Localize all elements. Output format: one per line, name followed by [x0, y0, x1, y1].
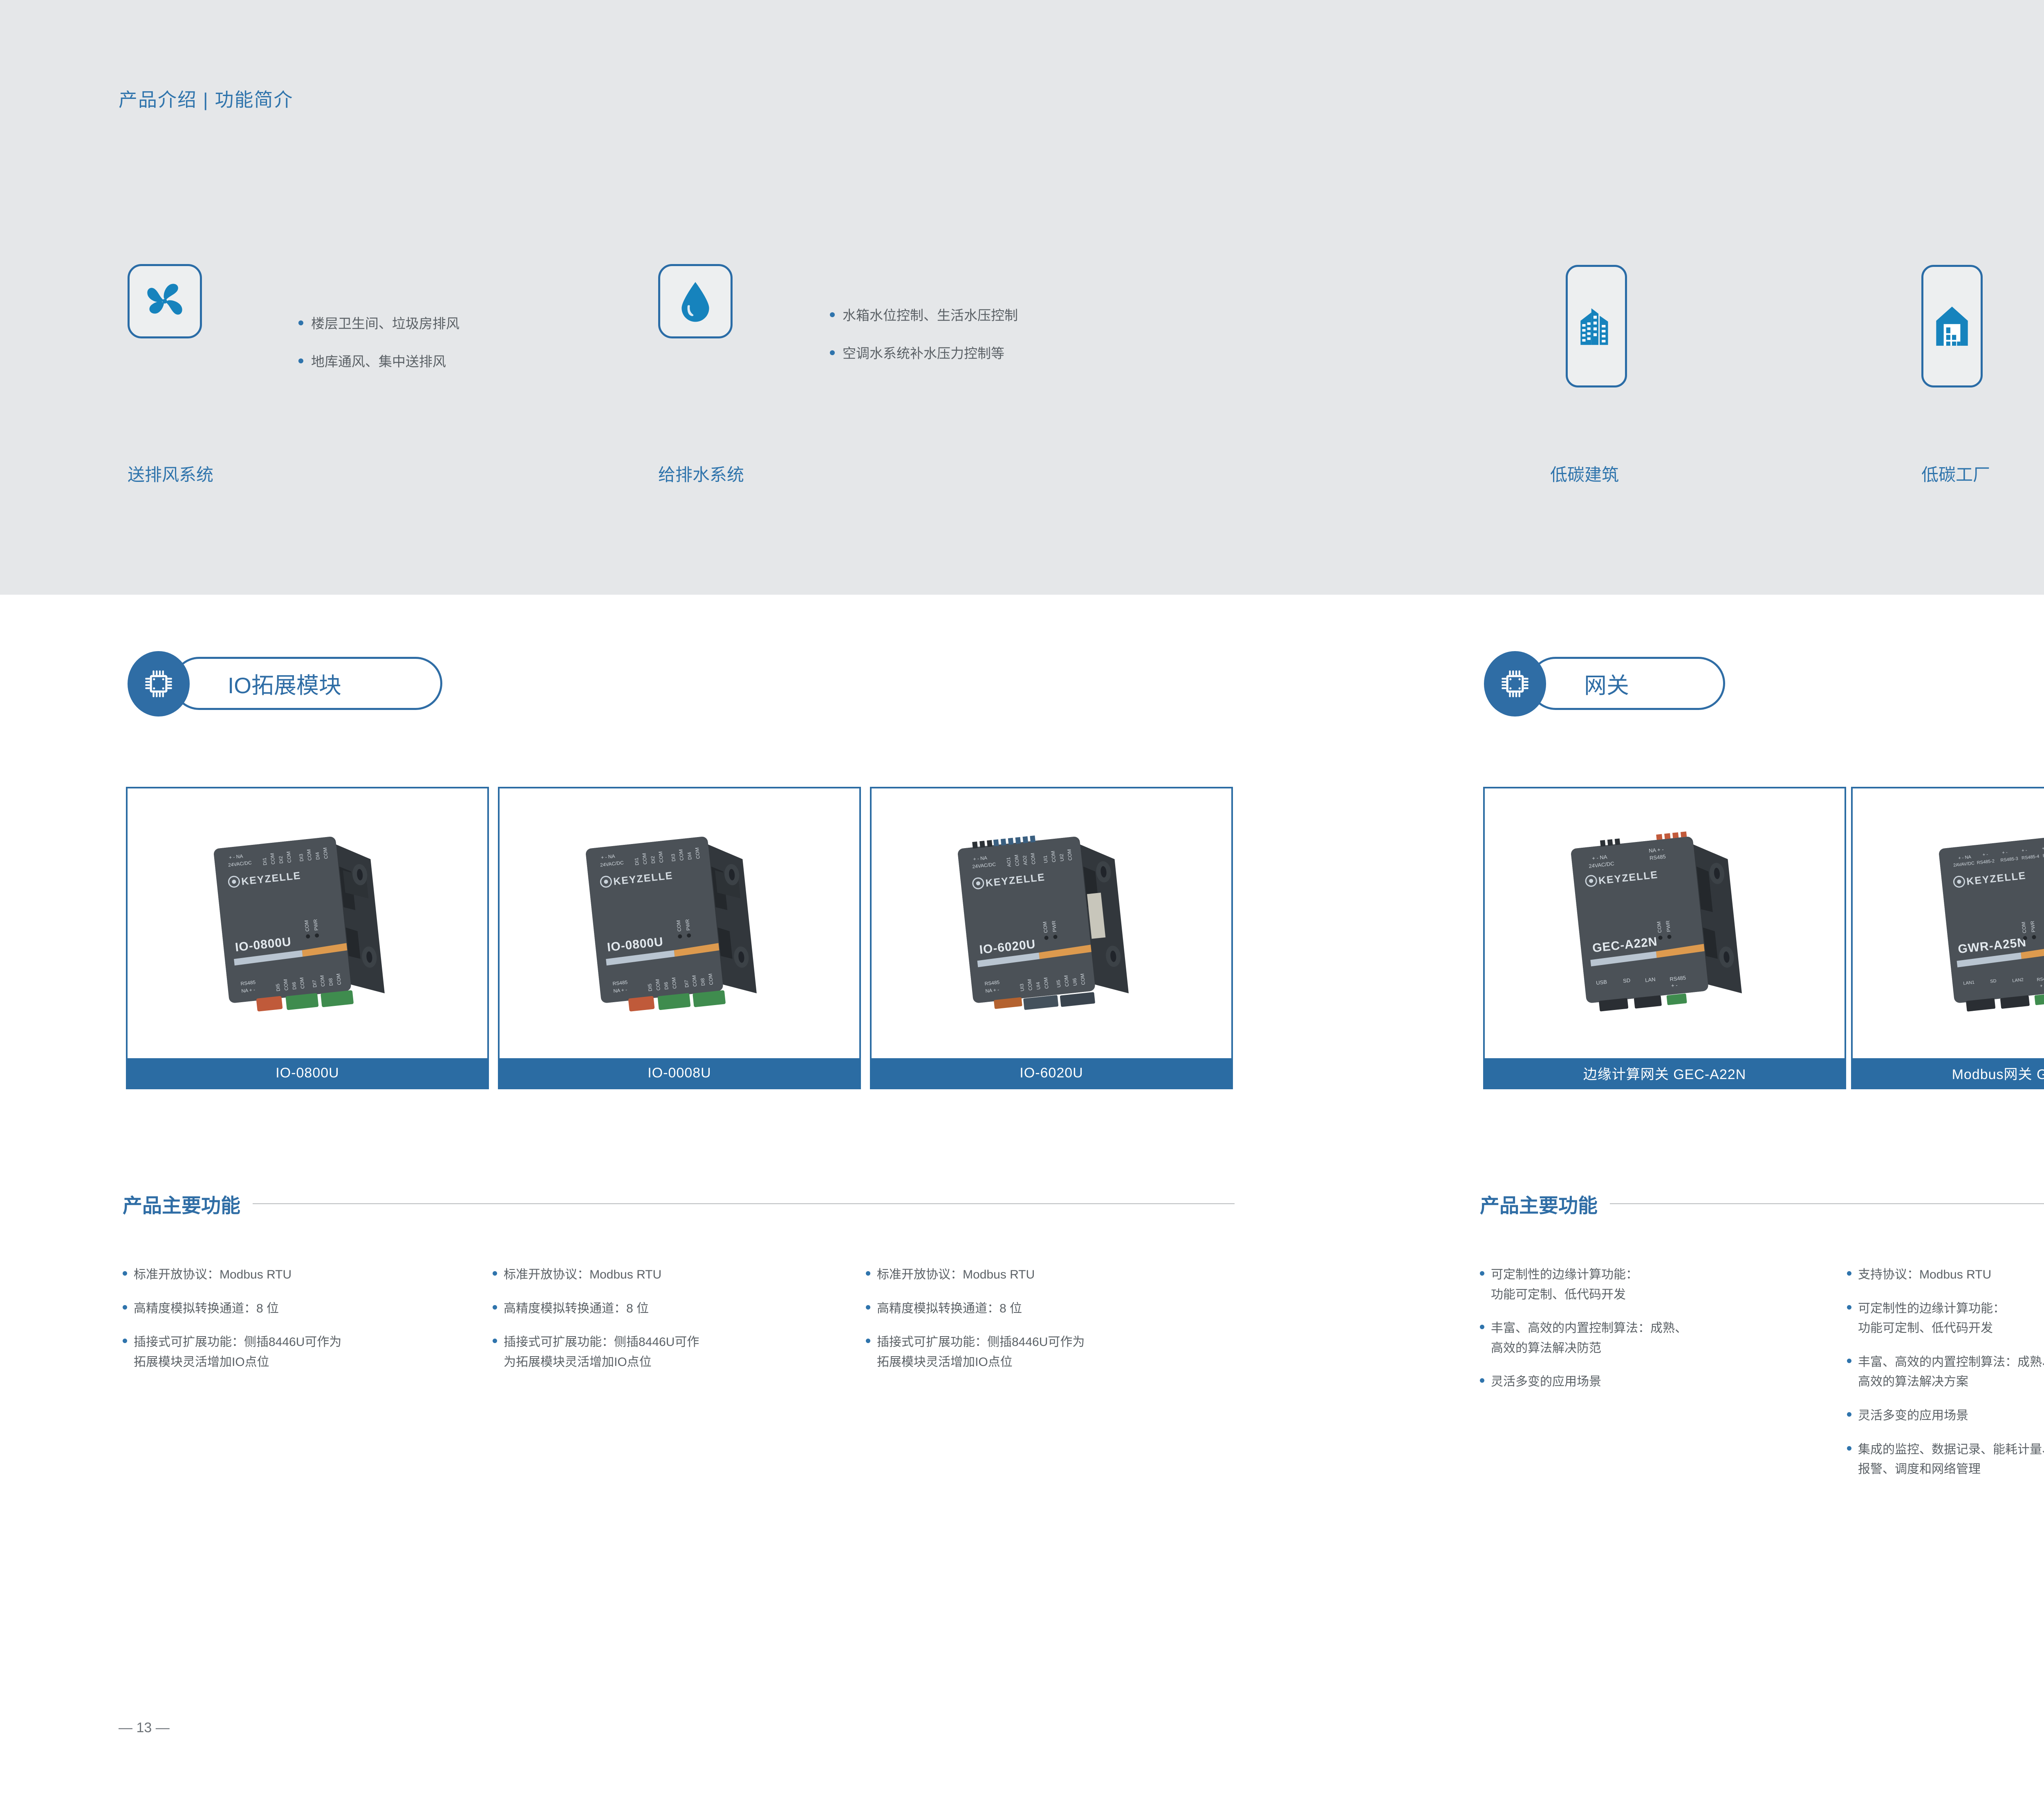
svg-text:UI3: UI3	[1019, 983, 1025, 992]
svg-text:UI6: UI6	[1071, 978, 1078, 986]
product-caption: Modbus网关 GWR-A25N	[1853, 1058, 2044, 1088]
bullet-dot	[830, 350, 835, 355]
svg-text:DI3: DI3	[298, 853, 305, 862]
bullet-dot	[866, 1271, 870, 1276]
list-item: 可定制性的边缘计算功能： 功能可定制、低代码开发	[1480, 1265, 1840, 1305]
scenario-label-factory: 低碳工厂	[1921, 461, 1990, 486]
bullet-text: 空调水系统补水压力控制等	[843, 345, 1004, 363]
svg-text:DI6: DI6	[663, 982, 670, 990]
svg-text:UI2: UI2	[1058, 853, 1065, 862]
app-tile-water	[658, 264, 733, 338]
list-item: 地库通风、集中送排风	[298, 353, 459, 371]
device-photo-gwr-a25n: + - NA + - + - + - + - 2AVAV/DC RS485-2 …	[1889, 809, 2044, 1038]
fan-icon	[142, 278, 188, 324]
scenario-tile-building	[1566, 265, 1627, 387]
list-item: 空调水系统补水压力控制等	[830, 345, 1018, 363]
bullet-dot	[123, 1271, 127, 1276]
bullet-dot	[493, 1339, 497, 1343]
bullet-dot	[493, 1271, 497, 1276]
list-item: 高精度模拟转换通道：8 位	[493, 1299, 852, 1319]
feature-column-io-3: 标准开放协议：Modbus RTU 高精度模拟转换通道：8 位 插接式可扩展功能…	[866, 1265, 1226, 1386]
product-card-io-0008u[interactable]: + - NA 24VAC/DC DI1 COM DI2 COM DI3 COM …	[498, 787, 861, 1089]
list-item: 标准开放协议：Modbus RTU	[123, 1265, 482, 1285]
feature-text: 可定制性的边缘计算功能： 功能可定制、低代码开发	[1858, 1299, 2005, 1339]
app-label-ventilation: 送排风系统	[128, 461, 213, 486]
bullet-dot	[298, 320, 303, 325]
svg-text:COM: COM	[322, 847, 329, 859]
feature-text: 插接式可扩展功能：侧插8446U可作为 拓展模块灵活增加IO点位	[877, 1332, 1085, 1372]
svg-text:+ -: + -	[2002, 850, 2008, 855]
section-title-gateway: 网关	[1584, 667, 1629, 700]
svg-text:+ -: + -	[2022, 848, 2028, 853]
product-photo: + - NA + - + - + - + - 2AVAV/DC RS485-2 …	[1853, 788, 2044, 1058]
list-item: 丰富、高效的内置控制算法：成熟、 高效的算法解决方案	[1847, 1352, 2044, 1392]
product-card-io-6020u[interactable]: + - NA 24VAC/DC AO1 COM AO2 COM UI1 COM …	[870, 787, 1233, 1089]
svg-text:COM: COM	[1656, 921, 1663, 933]
list-item: 高精度模拟转换通道：8 位	[123, 1299, 482, 1319]
svg-text:DI1: DI1	[262, 857, 268, 865]
feature-column-gateway-1: 可定制性的边缘计算功能： 功能可定制、低代码开发 丰富、高效的内置控制算法：成熟…	[1480, 1265, 1840, 1406]
svg-text:+ -: + -	[1671, 982, 1678, 989]
svg-text:SD: SD	[1623, 977, 1631, 984]
bullet-text: 地库通风、集中送排风	[311, 353, 446, 371]
app-bullets-ventilation: 楼层卫生间、垃圾房排风 地库通风、集中送排风	[298, 315, 459, 390]
svg-text:DI7: DI7	[684, 979, 690, 987]
svg-text:DI2: DI2	[278, 855, 284, 864]
bullet-dot	[1847, 1412, 1851, 1417]
list-item: 丰富、高效的内置控制算法：成熟、 高效的算法解决防范	[1480, 1319, 1840, 1358]
feature-text: 灵活多变的应用场景	[1858, 1406, 1968, 1426]
heading-rule	[1610, 1203, 2044, 1204]
list-item: 灵活多变的应用场景	[1480, 1372, 1840, 1392]
svg-text:UI5: UI5	[1056, 979, 1062, 987]
device-photo-gec-a22n: + - NA 24VAC/DC NA + - RS485 USB SD LAN …	[1522, 809, 1808, 1038]
feature-text: 丰富、高效的内置控制算法：成熟、 高效的算法解决方案	[1858, 1352, 2044, 1392]
section-badge-io: IO拓展模块	[128, 648, 438, 719]
svg-text:COM: COM	[675, 920, 682, 932]
list-item: 标准开放协议：Modbus RTU	[493, 1265, 852, 1285]
heading-rule	[253, 1203, 1235, 1204]
list-item: 插接式可扩展功能：侧插8446U可作为 拓展模块灵活增加IO点位	[123, 1332, 482, 1372]
svg-text:UI4: UI4	[1035, 982, 1042, 990]
feature-column-io-2: 标准开放协议：Modbus RTU 高精度模拟转换通道：8 位 插接式可扩展功能…	[493, 1265, 852, 1386]
feature-text: 灵活多变的应用场景	[1491, 1372, 1601, 1392]
factory-icon	[1931, 303, 1973, 349]
svg-text:DI5: DI5	[275, 983, 281, 992]
svg-text:COM: COM	[694, 847, 701, 859]
app-bullets-water: 水箱水位控制、生活水压控制 空调水系统补水压力控制等	[830, 307, 1018, 382]
list-item: 灵活多变的应用场景	[1847, 1406, 2044, 1426]
app-label-water: 给排水系统	[658, 461, 744, 486]
feature-text: 标准开放协议：Modbus RTU	[504, 1265, 661, 1285]
svg-text:DI4: DI4	[686, 852, 693, 860]
section-badge-gateway: 网关	[1484, 648, 1713, 719]
bullet-dot	[866, 1305, 870, 1310]
list-item: 高精度模拟转换通道：8 位	[866, 1299, 1226, 1319]
list-item: 标准开放协议：Modbus RTU	[866, 1265, 1226, 1285]
features-heading-gateway: 产品主要功能	[1480, 1189, 2044, 1218]
bullet-dot	[123, 1305, 127, 1310]
feature-text: 丰富、高效的内置控制算法：成熟、 高效的算法解决防范	[1491, 1319, 1687, 1358]
svg-text:COM: COM	[671, 977, 678, 989]
svg-text:COM: COM	[1026, 979, 1033, 991]
svg-text:PWR: PWR	[312, 919, 319, 931]
svg-text:DI3: DI3	[670, 853, 677, 862]
feature-text: 高精度模拟转换通道：8 位	[504, 1299, 649, 1319]
product-photo: + - NA 24VAC/DC AO1 COM AO2 COM UI1 COM …	[872, 788, 1231, 1058]
svg-text:PWR: PWR	[1051, 920, 1058, 932]
svg-text:COM: COM	[285, 851, 292, 863]
svg-text:COM: COM	[1063, 975, 1070, 987]
svg-text:DI4: DI4	[314, 852, 321, 860]
list-item: 插接式可扩展功能：侧插8446U可作为 拓展模块灵活增加IO点位	[866, 1332, 1226, 1372]
bullet-dot	[493, 1305, 497, 1310]
bullet-dot	[1847, 1359, 1851, 1363]
product-card-gwr-a25n[interactable]: + - NA + - + - + - + - 2AVAV/DC RS485-2 …	[1851, 787, 2044, 1089]
svg-text:COM: COM	[678, 849, 685, 861]
svg-text:COM: COM	[303, 920, 310, 932]
bullet-dot	[298, 358, 303, 363]
product-caption: IO-6020U	[872, 1058, 1231, 1088]
svg-text:DI6: DI6	[291, 982, 298, 990]
features-title-gateway: 产品主要功能	[1480, 1189, 1598, 1218]
device-photo-io-0008u: + - NA 24VAC/DC DI1 COM DI2 COM DI3 COM …	[536, 809, 823, 1038]
svg-text:LAN: LAN	[1645, 976, 1656, 983]
svg-text:COM: COM	[2021, 922, 2028, 934]
svg-text:+ -: + -	[2042, 846, 2044, 851]
svg-text:DI1: DI1	[634, 857, 640, 865]
feature-text: 可定制性的边缘计算功能： 功能可定制、低代码开发	[1491, 1265, 1638, 1305]
svg-text:AO1: AO1	[1006, 857, 1012, 867]
bullet-dot	[1480, 1378, 1484, 1383]
svg-text:DI2: DI2	[650, 855, 656, 864]
feature-text: 插接式可扩展功能：侧插8446U可作 为拓展模块灵活增加IO点位	[504, 1332, 699, 1372]
chip-icon	[141, 666, 176, 701]
list-item: 插接式可扩展功能：侧插8446U可作 为拓展模块灵活增加IO点位	[493, 1332, 852, 1372]
bullet-dot	[1480, 1271, 1484, 1276]
bullet-dot	[866, 1339, 870, 1343]
svg-text:COM: COM	[1043, 977, 1050, 989]
chip-icon-badge-io	[128, 651, 190, 717]
feature-text: 标准开放协议：Modbus RTU	[134, 1265, 291, 1285]
list-item: 集成的监控、数据记录、能耗计量、 报警、调度和网络管理	[1847, 1440, 2044, 1480]
chip-icon-badge-gateway	[1484, 651, 1546, 717]
bullet-dot	[1847, 1446, 1851, 1451]
feature-text: 高精度模拟转换通道：8 位	[877, 1299, 1022, 1319]
svg-text:COM: COM	[306, 849, 313, 861]
svg-text:USB: USB	[1596, 979, 1607, 986]
office-building-icon	[1575, 303, 1618, 349]
bullet-dot	[123, 1339, 127, 1343]
svg-text:COM: COM	[641, 853, 648, 864]
svg-text:COM: COM	[1079, 973, 1086, 985]
svg-text:SD: SD	[1990, 978, 1997, 984]
product-card-io-0800u[interactable]: + - NA 24VAC/DC DI1 COM DI2 COM DI3 COM …	[126, 787, 489, 1089]
feature-column-gateway-2: 支持协议：Modbus RTU 可定制性的边缘计算功能： 功能可定制、低代码开发…	[1847, 1265, 2044, 1493]
product-photo: + - NA 24VAC/DC DI1 COM DI2 COM DI3 COM …	[128, 788, 487, 1058]
product-photo: + - NA 24VAC/DC DI1 COM DI2 COM DI3 COM …	[500, 788, 859, 1058]
feature-text: 插接式可扩展功能：侧插8446U可作为 拓展模块灵活增加IO点位	[134, 1332, 341, 1372]
feature-text: 集成的监控、数据记录、能耗计量、 报警、调度和网络管理	[1858, 1440, 2044, 1480]
section-pill-io: IO拓展模块	[173, 657, 442, 710]
svg-text:COM: COM	[282, 979, 289, 991]
svg-text:DI8: DI8	[699, 978, 706, 986]
bullet-dot	[1847, 1271, 1851, 1276]
features-title-io: 产品主要功能	[123, 1189, 240, 1218]
svg-text:COM: COM	[269, 853, 276, 864]
product-card-gec-a22n[interactable]: + - NA 24VAC/DC NA + - RS485 USB SD LAN …	[1483, 787, 1846, 1089]
section-pill-gateway: 网关	[1529, 657, 1725, 710]
svg-text:COM: COM	[654, 979, 661, 991]
svg-text:COM: COM	[657, 851, 664, 863]
top-grey-band	[0, 0, 2044, 595]
svg-text:COM: COM	[1042, 921, 1049, 933]
product-caption: 边缘计算网关 GEC-A22N	[1485, 1058, 1845, 1088]
product-caption: IO-0008U	[500, 1058, 859, 1088]
feature-text: 标准开放协议：Modbus RTU	[877, 1265, 1035, 1285]
bullet-text: 水箱水位控制、生活水压控制	[843, 307, 1018, 325]
svg-text:PWR: PWR	[1665, 920, 1672, 932]
brochure-page: 产品介绍 | 功能简介 产品介绍 | 功能简介 送排风系统 楼层卫生间、垃圾房排…	[0, 0, 2044, 1798]
svg-text:PWR: PWR	[2029, 920, 2036, 933]
bullet-dot	[830, 312, 835, 317]
svg-text:COM: COM	[691, 975, 698, 987]
device-photo-io-0800u: + - NA 24VAC/DC DI1 COM DI2 COM DI3 COM …	[164, 809, 450, 1038]
svg-text:COM: COM	[1013, 854, 1020, 866]
feature-text: 支持协议：Modbus RTU	[1858, 1265, 1991, 1285]
feature-text: 高精度模拟转换通道：8 位	[134, 1299, 279, 1319]
list-item: 可定制性的边缘计算功能： 功能可定制、低代码开发	[1847, 1299, 2044, 1339]
svg-text:COM: COM	[1050, 851, 1057, 862]
scenario-label-building: 低碳建筑	[1550, 461, 1619, 486]
chip-icon	[1497, 666, 1533, 701]
app-tile-ventilation	[128, 264, 202, 338]
list-item: 楼层卫生间、垃圾房排风	[298, 315, 459, 333]
water-drop-icon	[672, 278, 718, 324]
bullet-dot	[1480, 1325, 1484, 1329]
list-item: 支持协议：Modbus RTU	[1847, 1265, 2044, 1285]
page-number-left: — 13 —	[119, 1720, 170, 1736]
svg-text:AO2: AO2	[1022, 855, 1028, 866]
svg-text:+ -: + -	[2040, 983, 2044, 989]
list-item: 水箱水位控制、生活水压控制	[830, 307, 1018, 325]
svg-text:PWR: PWR	[684, 919, 691, 931]
header-left: 产品介绍 | 功能简介	[119, 85, 294, 112]
product-caption: IO-0800U	[128, 1058, 487, 1088]
device-photo-io-6020u: + - NA 24VAC/DC AO1 COM AO2 COM UI1 COM …	[908, 809, 1195, 1038]
bullet-text: 楼层卫生间、垃圾房排风	[311, 315, 459, 333]
svg-text:COM: COM	[707, 973, 714, 985]
bullet-dot	[1847, 1305, 1851, 1310]
svg-text:+ -: + -	[1982, 852, 1988, 857]
svg-text:DI8: DI8	[327, 978, 334, 986]
section-title-io: IO拓展模块	[228, 667, 341, 700]
svg-text:DI7: DI7	[312, 979, 318, 987]
feature-column-io-1: 标准开放协议：Modbus RTU 高精度模拟转换通道：8 位 插接式可扩展功能…	[123, 1265, 482, 1386]
svg-text:COM: COM	[1030, 853, 1037, 864]
svg-text:DI5: DI5	[647, 983, 653, 992]
svg-text:COM: COM	[335, 973, 342, 985]
scenario-tile-factory	[1921, 265, 1983, 387]
features-heading-io: 产品主要功能	[123, 1189, 1235, 1218]
product-photo: + - NA 24VAC/DC NA + - RS485 USB SD LAN …	[1485, 788, 1845, 1058]
svg-text:COM: COM	[319, 975, 326, 987]
svg-text:COM: COM	[299, 977, 306, 989]
svg-text:COM: COM	[1066, 849, 1073, 861]
svg-text:UI1: UI1	[1042, 855, 1049, 863]
